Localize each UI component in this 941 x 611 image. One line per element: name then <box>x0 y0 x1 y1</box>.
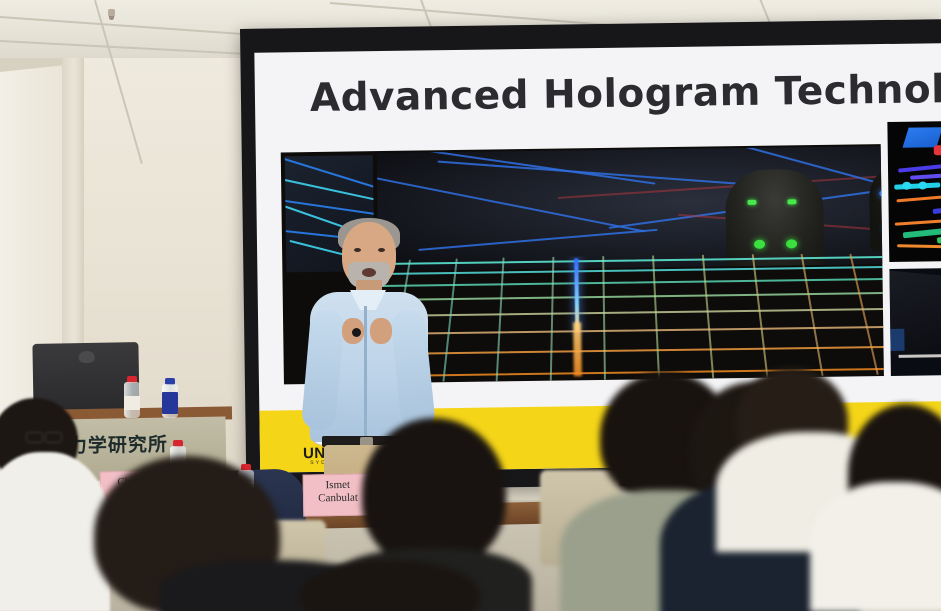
ceiling-sprinkler-icon <box>108 9 115 18</box>
water-bottle-1 <box>124 382 140 418</box>
slide-equipment-panel <box>889 267 941 376</box>
red-marker-icon <box>934 145 941 155</box>
presenter-mouth <box>362 268 376 277</box>
attendee-bottom-center <box>300 560 480 611</box>
water-bottle-2 <box>162 384 178 418</box>
slide-point-cloud-panel <box>887 120 941 262</box>
attendee-far-right-body <box>810 482 941 611</box>
hologram-beam-lower <box>573 322 582 376</box>
presenter-shirt-placket <box>364 306 367 436</box>
presenter-ring <box>352 328 361 337</box>
attendee-left-glasses-icon <box>26 432 60 442</box>
slide-title: Advanced Hologram Technol <box>310 67 941 121</box>
conference-photo: Advanced Hologram Technol <box>0 0 941 611</box>
slide-hologram-grid <box>378 252 884 383</box>
monitor-logo-icon <box>79 351 95 363</box>
slide-person-two <box>869 165 882 252</box>
presenter-right-hand <box>370 318 392 344</box>
